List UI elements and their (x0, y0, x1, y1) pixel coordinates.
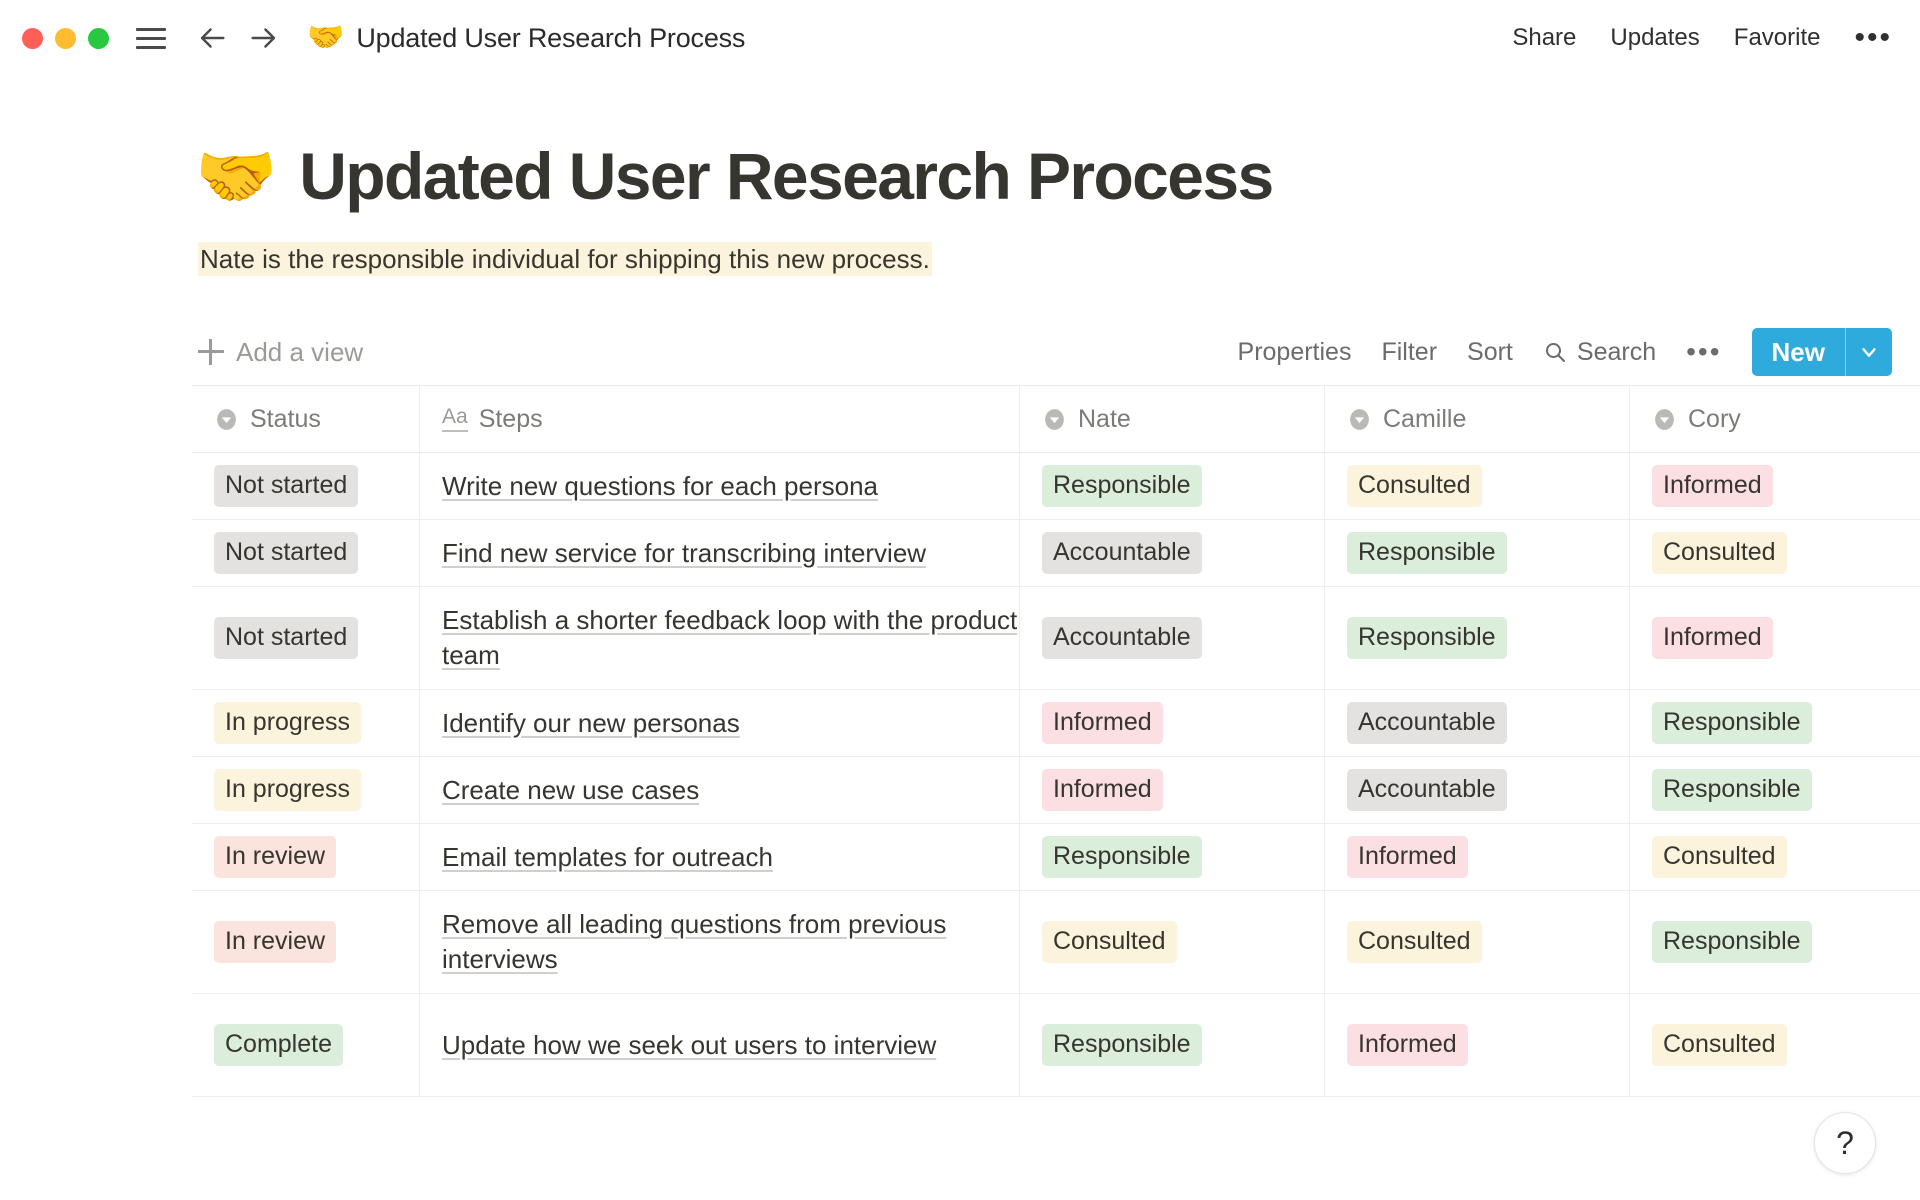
cell-status[interactable]: Complete (192, 994, 420, 1096)
cell-camille[interactable]: Consulted (1325, 891, 1630, 993)
cell-status[interactable]: In progress (192, 757, 420, 823)
titlebar-actions: Share Updates Favorite ••• (1512, 24, 1892, 52)
cell-cory[interactable]: Consulted (1630, 824, 1920, 890)
cell-status[interactable]: In review (192, 891, 420, 993)
more-options-icon[interactable]: ••• (1854, 29, 1892, 47)
cell-camille[interactable]: Responsible (1325, 587, 1630, 689)
minimize-window-button[interactable] (55, 28, 76, 49)
column-header-label: Status (250, 405, 321, 434)
title-aa-icon: Aa (442, 406, 468, 431)
raci-badge: Responsible (1042, 836, 1202, 877)
column-header-steps[interactable]: Aa Steps (420, 386, 1020, 452)
page-title[interactable]: Updated User Research Process (299, 138, 1272, 214)
status-badge: In progress (214, 702, 361, 743)
database-table: Status Aa Steps Nate Camille Cory (192, 385, 1920, 1097)
raci-badge: Informed (1347, 1024, 1468, 1065)
search-icon (1543, 340, 1567, 364)
raci-badge: Informed (1042, 769, 1163, 810)
column-header-label: Nate (1078, 405, 1131, 434)
raci-badge: Accountable (1347, 769, 1507, 810)
page-content: 🤝 Updated User Research Process Nate is … (0, 138, 1920, 1097)
search-button[interactable]: Search (1543, 338, 1656, 367)
column-header-label: Camille (1383, 405, 1466, 434)
cell-status[interactable]: Not started (192, 587, 420, 689)
cell-camille[interactable]: Consulted (1325, 453, 1630, 519)
cell-nate[interactable]: Accountable (1020, 520, 1325, 586)
step-link[interactable]: Update how we seek out users to intervie… (442, 1020, 936, 1071)
table-row[interactable]: Not startedEstablish a shorter feedback … (192, 587, 1920, 690)
handshake-icon: 🤝 (307, 23, 344, 53)
cell-nate[interactable]: Informed (1020, 757, 1325, 823)
cell-step[interactable]: Email templates for outreach (420, 824, 1020, 890)
cell-nate[interactable]: Responsible (1020, 453, 1325, 519)
cell-camille[interactable]: Responsible (1325, 520, 1630, 586)
search-label: Search (1577, 338, 1656, 367)
help-button[interactable]: ? (1814, 1112, 1876, 1174)
cell-step[interactable]: Establish a shorter feedback loop with t… (420, 587, 1020, 689)
raci-badge: Responsible (1652, 769, 1812, 810)
status-badge: Not started (214, 465, 358, 506)
cell-nate[interactable]: Consulted (1020, 891, 1325, 993)
status-badge: In review (214, 921, 336, 962)
cell-step[interactable]: Find new service for transcribing interv… (420, 520, 1020, 586)
step-link[interactable]: Create new use cases (442, 765, 699, 816)
cell-status[interactable]: In progress (192, 690, 420, 756)
close-window-button[interactable] (22, 28, 43, 49)
raci-badge: Informed (1652, 617, 1773, 658)
properties-button[interactable]: Properties (1238, 338, 1352, 367)
favorite-button[interactable]: Favorite (1734, 24, 1821, 52)
raci-badge: Informed (1652, 465, 1773, 506)
column-header-status[interactable]: Status (192, 386, 420, 452)
add-view-button[interactable]: Add a view (198, 337, 363, 368)
cell-cory[interactable]: Informed (1630, 587, 1920, 689)
cell-cory[interactable]: Informed (1630, 453, 1920, 519)
cell-camille[interactable]: Accountable (1325, 757, 1630, 823)
new-button-label: New (1752, 328, 1845, 376)
table-row[interactable]: In progressCreate new use casesInformedA… (192, 757, 1920, 824)
arrow-right-icon[interactable] (247, 21, 281, 55)
window-controls (22, 28, 109, 49)
table-body: Not startedWrite new questions for each … (192, 453, 1920, 1097)
select-icon (1652, 407, 1677, 432)
filter-button[interactable]: Filter (1381, 338, 1437, 367)
status-badge: In review (214, 836, 336, 877)
table-header-row: Status Aa Steps Nate Camille Cory (192, 386, 1920, 453)
toolbar-more-icon[interactable]: ••• (1686, 344, 1721, 361)
table-row[interactable]: CompleteUpdate how we seek out users to … (192, 994, 1920, 1097)
cell-cory[interactable]: Responsible (1630, 690, 1920, 756)
updates-button[interactable]: Updates (1610, 24, 1699, 52)
status-badge: Not started (214, 532, 358, 573)
cell-cory[interactable]: Responsible (1630, 757, 1920, 823)
window-titlebar: 🤝 Updated User Research Process Share Up… (0, 0, 1920, 76)
step-link[interactable]: Establish a shorter feedback loop with t… (442, 595, 1019, 680)
cell-cory[interactable]: Consulted (1630, 994, 1920, 1096)
page-heading: 🤝 Updated User Research Process (0, 138, 1920, 214)
maximize-window-button[interactable] (88, 28, 109, 49)
page-subtitle-wrapper: Nate is the responsible individual for s… (0, 240, 1920, 279)
help-label: ? (1836, 1125, 1854, 1162)
hamburger-icon[interactable] (135, 22, 167, 54)
sort-button[interactable]: Sort (1467, 338, 1513, 367)
column-header-nate[interactable]: Nate (1020, 386, 1325, 452)
table-row[interactable]: In reviewEmail templates for outreachRes… (192, 824, 1920, 891)
raci-badge: Accountable (1347, 702, 1507, 743)
raci-badge: Consulted (1042, 921, 1177, 962)
toolbar-actions: Properties Filter Sort Search ••• New (1238, 328, 1920, 376)
page-subtitle: Nate is the responsible individual for s… (198, 242, 932, 276)
cell-status[interactable]: Not started (192, 520, 420, 586)
raci-badge: Responsible (1347, 617, 1507, 658)
cell-step[interactable]: Identify our new personas (420, 690, 1020, 756)
chevron-down-icon[interactable] (1846, 328, 1892, 376)
step-link[interactable]: Find new service for transcribing interv… (442, 528, 926, 579)
cell-nate[interactable]: Responsible (1020, 994, 1325, 1096)
table-row[interactable]: In reviewRemove all leading questions fr… (192, 891, 1920, 994)
raci-badge: Consulted (1652, 836, 1787, 877)
navigation-arrows (195, 21, 281, 55)
raci-badge: Consulted (1652, 1024, 1787, 1065)
cell-step[interactable]: Remove all leading questions from previo… (420, 891, 1020, 993)
cell-cory[interactable]: Responsible (1630, 891, 1920, 993)
status-badge: Not started (214, 617, 358, 658)
cell-nate[interactable]: Accountable (1020, 587, 1325, 689)
arrow-left-icon[interactable] (195, 21, 229, 55)
raci-badge: Responsible (1652, 921, 1812, 962)
raci-badge: Informed (1042, 702, 1163, 743)
raci-badge: Accountable (1042, 617, 1202, 658)
breadcrumb-title[interactable]: Updated User Research Process (356, 23, 745, 54)
raci-badge: Responsible (1347, 532, 1507, 573)
step-link[interactable]: Write new questions for each persona (442, 461, 878, 512)
table-row[interactable]: In progressIdentify our new personasInfo… (192, 690, 1920, 757)
app-root: 🤝 Updated User Research Process Share Up… (0, 0, 1920, 1200)
step-link[interactable]: Remove all leading questions from previo… (442, 899, 1019, 984)
database-toolbar: Add a view Properties Filter Sort Search… (0, 325, 1920, 379)
add-view-label: Add a view (236, 337, 363, 368)
status-badge: Complete (214, 1024, 343, 1065)
cell-cory[interactable]: Consulted (1630, 520, 1920, 586)
cell-step[interactable]: Create new use cases (420, 757, 1020, 823)
column-header-label: Steps (479, 405, 543, 434)
share-button[interactable]: Share (1512, 24, 1576, 52)
table-row[interactable]: Not startedFind new service for transcri… (192, 520, 1920, 587)
select-icon (1347, 407, 1372, 432)
step-link[interactable]: Email templates for outreach (442, 832, 773, 883)
raci-badge: Responsible (1042, 1024, 1202, 1065)
raci-badge: Consulted (1347, 465, 1482, 506)
cell-camille[interactable]: Informed (1325, 824, 1630, 890)
cell-camille[interactable]: Accountable (1325, 690, 1630, 756)
page-handshake-icon[interactable]: 🤝 (195, 143, 277, 209)
cell-camille[interactable]: Informed (1325, 994, 1630, 1096)
raci-badge: Informed (1347, 836, 1468, 877)
raci-badge: Consulted (1347, 921, 1482, 962)
cell-step[interactable]: Write new questions for each persona (420, 453, 1020, 519)
column-header-camille[interactable]: Camille (1325, 386, 1630, 452)
step-link[interactable]: Identify our new personas (442, 698, 740, 749)
raci-badge: Consulted (1652, 532, 1787, 573)
plus-icon (198, 339, 224, 365)
raci-badge: Responsible (1652, 702, 1812, 743)
cell-nate[interactable]: Informed (1020, 690, 1325, 756)
select-icon (1042, 407, 1067, 432)
new-button[interactable]: New (1752, 328, 1892, 376)
cell-status[interactable]: Not started (192, 453, 420, 519)
column-header-cory[interactable]: Cory (1630, 386, 1920, 452)
cell-nate[interactable]: Responsible (1020, 824, 1325, 890)
cell-step[interactable]: Update how we seek out users to intervie… (420, 994, 1020, 1096)
raci-badge: Responsible (1042, 465, 1202, 506)
select-icon (214, 407, 239, 432)
table-row[interactable]: Not startedWrite new questions for each … (192, 453, 1920, 520)
cell-status[interactable]: In review (192, 824, 420, 890)
status-badge: In progress (214, 769, 361, 810)
column-header-label: Cory (1688, 405, 1741, 434)
raci-badge: Accountable (1042, 532, 1202, 573)
